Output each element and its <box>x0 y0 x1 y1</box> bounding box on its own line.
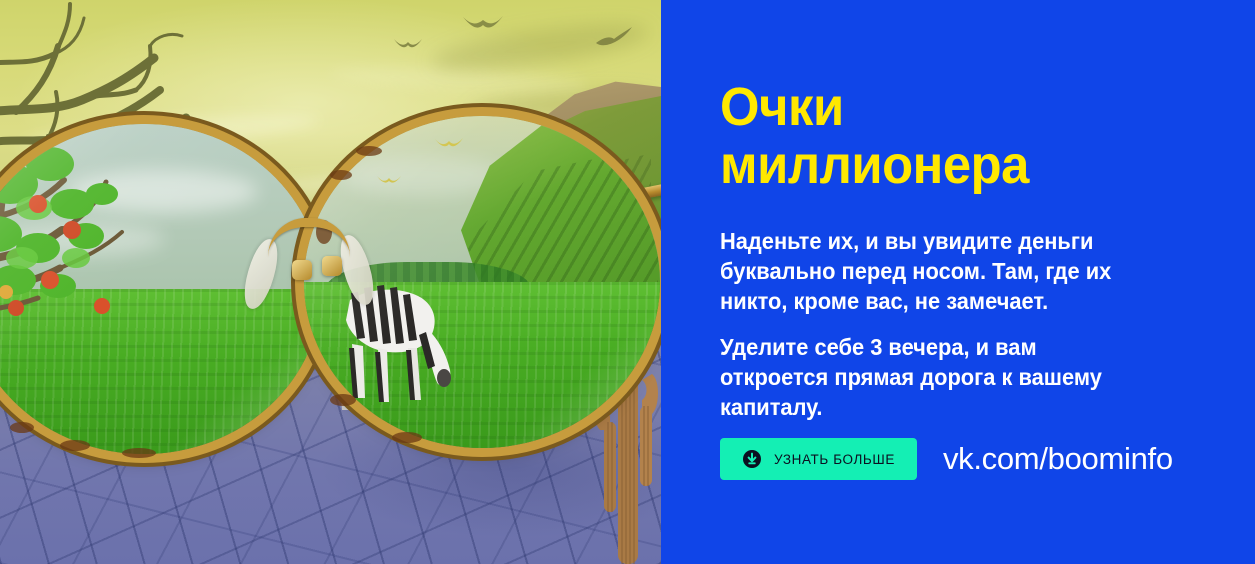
rim-speckle <box>122 448 156 458</box>
sunglasses <box>0 110 661 470</box>
arrow-down-circle-icon <box>742 449 762 469</box>
bird-icon <box>594 26 634 50</box>
hero-photo <box>0 0 661 564</box>
page-title: Очки миллионера <box>720 78 1115 194</box>
bird-icon <box>393 37 423 53</box>
glasses-hinge-left <box>292 260 312 280</box>
rim-speckle <box>356 146 382 156</box>
bird-icon <box>434 136 464 152</box>
rim-speckle <box>330 394 356 406</box>
bird-icon <box>462 14 504 34</box>
rim-speckle <box>10 422 34 433</box>
rim-speckle <box>60 440 90 451</box>
lens-left <box>0 124 322 454</box>
cta-row: УЗНАТЬ БОЛЬШЕ vk.com/boominfo <box>720 438 1173 480</box>
cloud <box>340 156 504 196</box>
learn-more-button[interactable]: УЗНАТЬ БОЛЬШЕ <box>720 438 917 480</box>
learn-more-label: УЗНАТЬ БОЛЬШЕ <box>774 452 895 467</box>
promo-panel: Очки миллионера Наденьте их, и вы увидит… <box>661 0 1255 564</box>
bird-icon <box>376 174 402 188</box>
vk-profile-link[interactable]: vk.com/boominfo <box>943 441 1173 477</box>
lens-left-scene <box>0 124 322 454</box>
description-paragraph-2: Уделите себе 3 вечера, и вам откроется п… <box>720 332 1146 422</box>
rim-speckle <box>330 170 352 180</box>
description-paragraph-1: Наденьте их, и вы увидите деньги букваль… <box>720 226 1146 316</box>
apple-tree <box>0 124 206 378</box>
advertisement-banner: Очки миллионера Наденьте их, и вы увидит… <box>0 0 1255 564</box>
glasses-hinge-right <box>322 256 342 276</box>
rim-speckle <box>392 432 422 443</box>
